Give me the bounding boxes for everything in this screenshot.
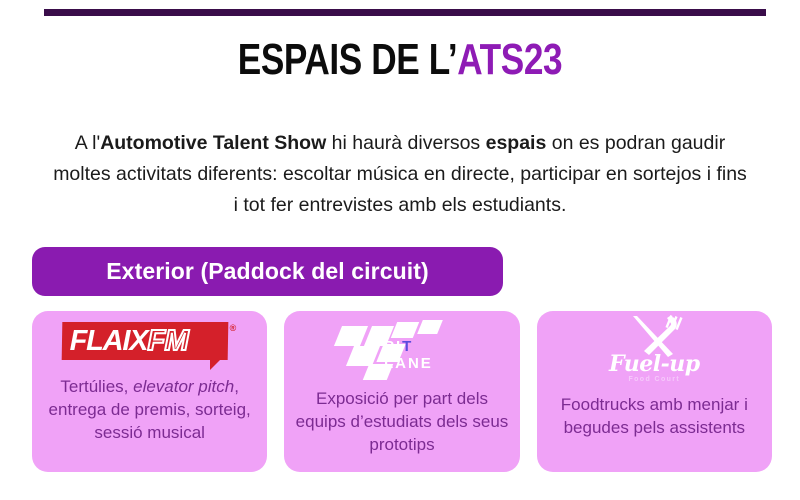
checkered-flag-icon: [391, 322, 419, 338]
intro-text-2: hi haurà diversos: [326, 132, 485, 154]
card-logo-slot: FLAIXFM ®: [32, 311, 267, 373]
registered-trademark-icon: ®: [230, 323, 237, 333]
card-flaix-fm[interactable]: FLAIXFM ® Tertúlies, elevator pitch, ent…: [32, 311, 267, 472]
intro-bold-event-name: Automotive Talent Show: [100, 132, 326, 154]
pit-lane-line-1: PIT: [384, 338, 433, 355]
card-pit-lane[interactable]: PIT LANE Exposició per part dels equips …: [284, 311, 519, 472]
fuel-up-subtitle: Food Court: [589, 376, 719, 383]
intro-text-1: A l': [75, 132, 100, 154]
card-logo-slot: PIT LANE: [284, 311, 519, 385]
card3-text: Foodtrucks amb menjar i begudes pels ass…: [547, 393, 762, 439]
checkered-flag-icon: [417, 320, 443, 334]
flaix-logo-word: FLAIX: [70, 325, 148, 357]
card-description: Foodtrucks amb menjar i begudes pels ass…: [537, 389, 772, 472]
intro-paragraph: A l'Automotive Talent Show hi haurà dive…: [50, 128, 750, 221]
card-description: Tertúlies, elevator pitch, entrega de pr…: [32, 373, 267, 472]
intro-bold-espais: espais: [486, 132, 547, 154]
pit-lane-line-2: LANE: [384, 355, 433, 372]
page-title-prefix: ESPAIS DE L’: [238, 35, 457, 84]
card2-text: Exposició per part dels equips d’estudia…: [294, 387, 509, 456]
card-description: Exposició per part dels equips d’estudia…: [284, 385, 519, 472]
header-rule: [44, 9, 766, 16]
section-banner-exterior: Exterior (Paddock del circuit): [32, 247, 503, 296]
page-title: ESPAIS DE L’ATS23: [80, 36, 720, 84]
card-row: FLAIXFM ® Tertúlies, elevator pitch, ent…: [32, 311, 772, 472]
card1-text-1: Tertúlies,: [60, 377, 133, 396]
fuel-up-wordmark: Fuel-up: [589, 352, 719, 376]
flaix-logo-tail: [210, 358, 222, 370]
card1-text-italic: elevator pitch: [133, 377, 234, 396]
checkered-flag-icon: [334, 326, 368, 346]
fuel-up-logo: Fuel-up Food Court: [589, 314, 719, 388]
flaix-logo-fm: FM: [147, 325, 188, 357]
flaix-fm-logo: FLAIXFM ®: [60, 322, 240, 368]
card-fuel-up[interactable]: Fuel-up Food Court Foodtrucks amb menjar…: [537, 311, 772, 472]
card-logo-slot: Fuel-up Food Court: [537, 311, 772, 389]
pit-lane-pi: PI: [384, 338, 402, 355]
section-banner-label: Exterior (Paddock del circuit): [106, 258, 429, 285]
flaix-logo-text: FLAIXFM: [70, 324, 189, 358]
pit-lane-wordmark: PIT LANE: [384, 338, 433, 372]
pit-lane-logo: PIT LANE: [332, 320, 472, 380]
pit-lane-t: T: [402, 338, 413, 355]
page-title-accent: ATS23: [457, 35, 562, 84]
checkered-flag-icon: [346, 346, 380, 366]
